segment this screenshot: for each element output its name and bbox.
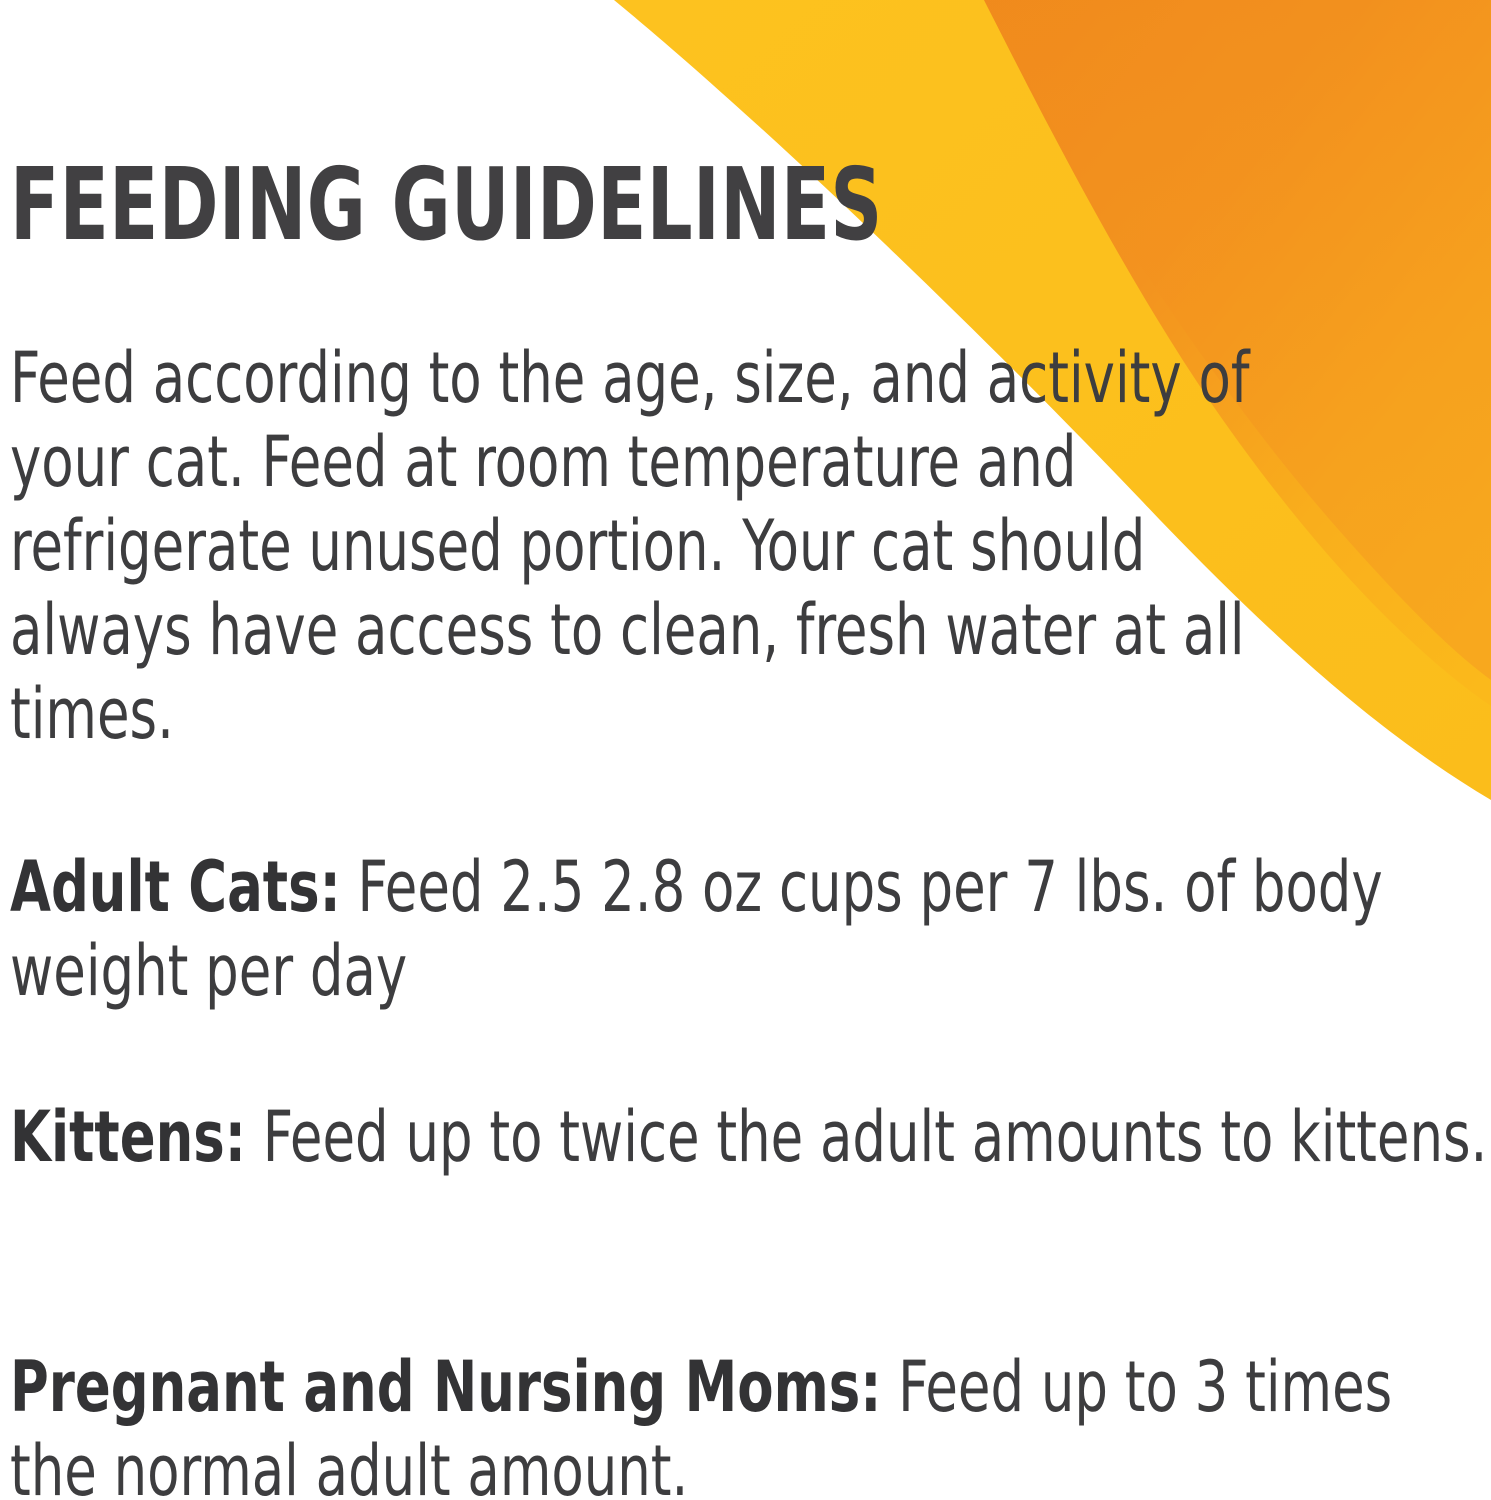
guideline-pregnant-nursing-moms: Pregnant and Nursing Moms: Feed up to 3 … <box>10 1345 1488 1500</box>
guideline-kittens-label: Kittens: <box>10 1096 246 1178</box>
guideline-pregnant-nursing-moms-label: Pregnant and Nursing Moms: <box>10 1346 881 1428</box>
feeding-guidelines-panel: FEEDING GUIDELINES Feed according to the… <box>0 0 1491 1500</box>
guideline-adult-cats-label: Adult Cats: <box>10 846 341 928</box>
guideline-adult-cats: Adult Cats: Feed 2.5 2.8 oz cups per 7 l… <box>10 845 1488 1013</box>
guideline-kittens-text: Feed up to twice the adult amounts to ki… <box>246 1096 1487 1178</box>
page-title: FEEDING GUIDELINES <box>10 155 883 255</box>
intro-paragraph: Feed according to the age, size, and act… <box>10 336 1253 756</box>
guideline-kittens: Kittens: Feed up to twice the adult amou… <box>10 1095 1488 1179</box>
guidelines-content: FEEDING GUIDELINES Feed according to the… <box>0 0 1491 1500</box>
